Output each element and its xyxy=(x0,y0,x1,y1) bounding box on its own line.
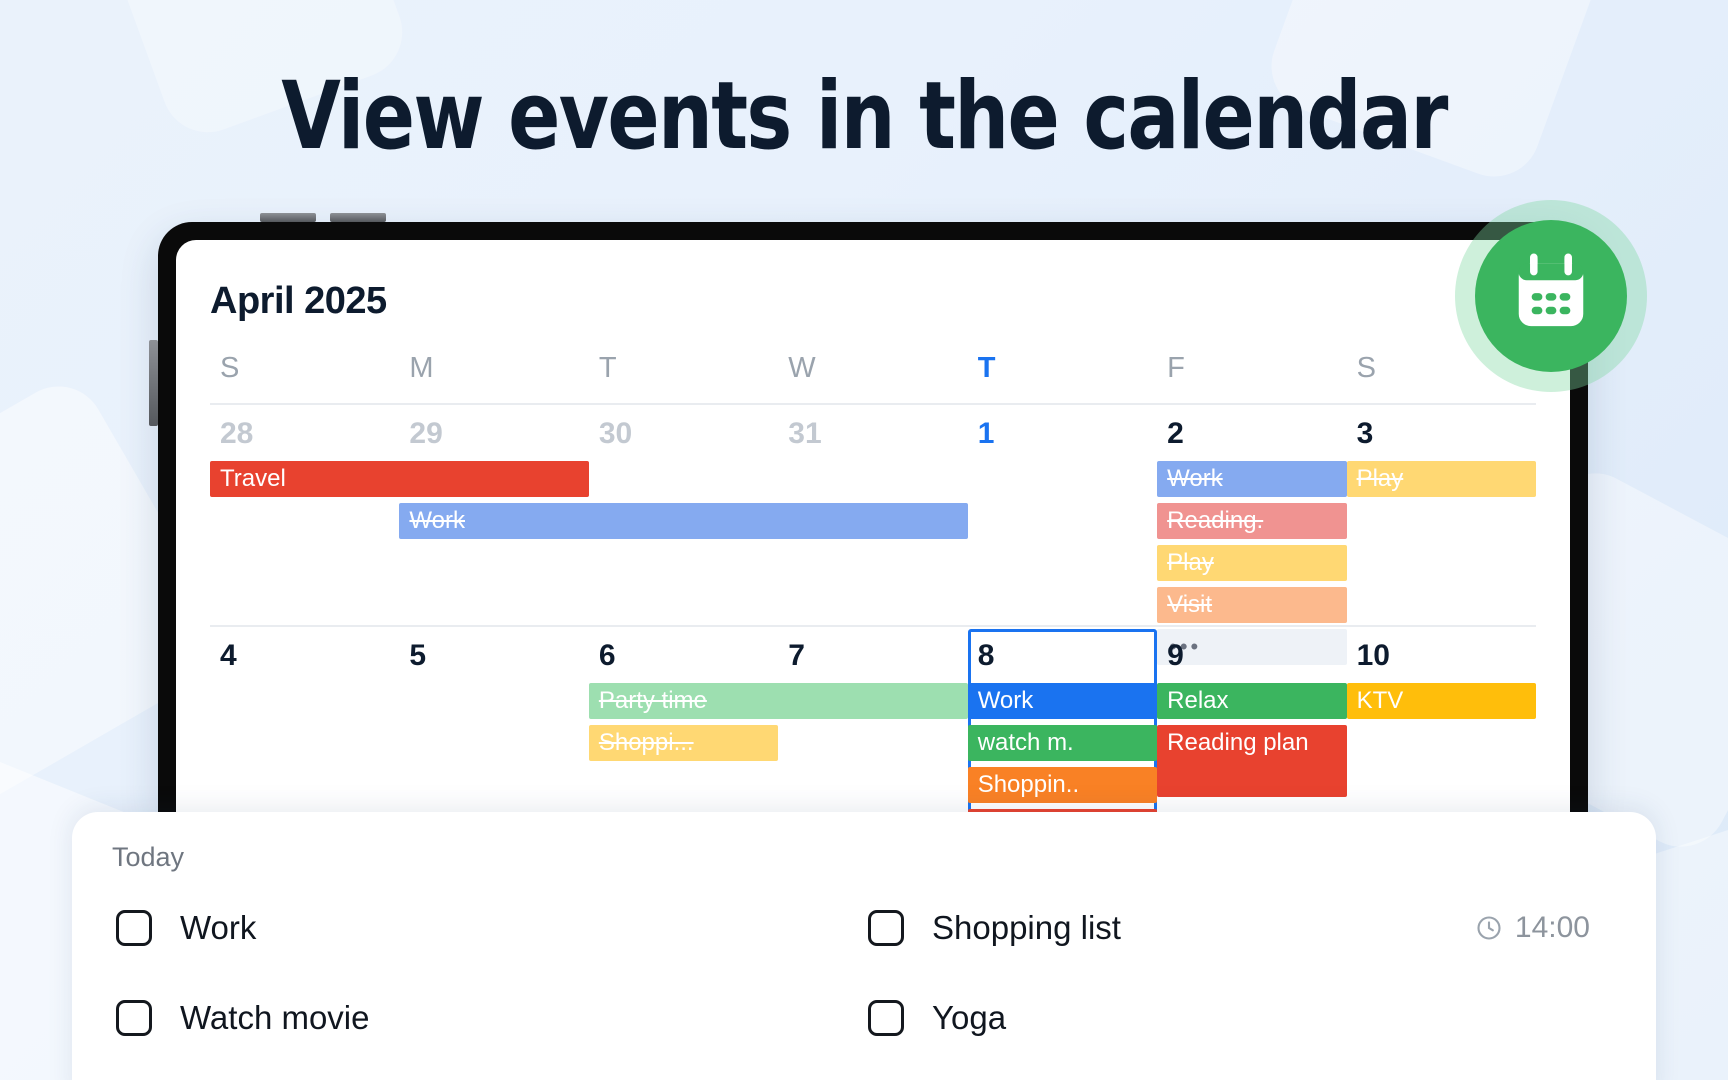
day-cell-1[interactable]: 1 xyxy=(968,417,1157,451)
weekday-label-1: M xyxy=(399,352,588,385)
calendar-week-row: 28293031123TravelWorkWorkReading.PlayVis… xyxy=(210,405,1536,627)
day-number-row: 28293031123 xyxy=(210,405,1536,451)
todo-label: Watch movie xyxy=(180,999,370,1037)
calendar-week-row: 45678910Party timeShoppi...Workwatch m.S… xyxy=(210,627,1536,812)
todo-label: Yoga xyxy=(932,999,1006,1037)
todo-label: Shopping list xyxy=(932,909,1121,947)
day-number-row: 45678910 xyxy=(210,627,1536,673)
calendar-event[interactable]: Work xyxy=(968,683,1157,719)
volume-down-button[interactable] xyxy=(330,213,386,222)
todo-time-value: 14:00 xyxy=(1515,911,1590,945)
calendar-weeks: 28293031123TravelWorkWorkReading.PlayVis… xyxy=(210,405,1536,812)
calendar-header: April 2025 8 xyxy=(210,278,1536,324)
weekday-header-row: SMTWTFS xyxy=(210,352,1536,405)
week-events: TravelWorkWorkReading.PlayVisit•••Play xyxy=(210,461,1536,625)
weekday-label-0: S xyxy=(210,352,399,385)
calendar-event[interactable]: Reading. xyxy=(1157,503,1346,539)
volume-up-button[interactable] xyxy=(260,213,316,222)
weekday-label-5: F xyxy=(1157,352,1346,385)
calendar-event[interactable]: Shoppin.. xyxy=(968,767,1157,803)
day-cell-29[interactable]: 29 xyxy=(399,417,588,451)
today-todo-card: Today WorkShopping list14:00Watch movieY… xyxy=(72,812,1656,1080)
day-cell-9[interactable]: 9 xyxy=(1157,639,1346,673)
day-cell-8[interactable]: 8 xyxy=(968,639,1157,673)
weekday-label-3: W xyxy=(778,352,967,385)
calendar-app-screen: April 2025 8 SMTWTFS 28293031123TravelWo… xyxy=(176,240,1570,812)
todo-item[interactable]: Work xyxy=(112,893,864,963)
clock-icon xyxy=(1475,914,1503,942)
todo-item[interactable]: Yoga xyxy=(864,983,1616,1053)
day-cell-3[interactable]: 3 xyxy=(1347,417,1536,451)
calendar-event[interactable]: Visit xyxy=(1157,587,1346,623)
calendar-event[interactable]: Reading plan xyxy=(1157,725,1346,797)
checkbox[interactable] xyxy=(868,910,904,946)
checkbox[interactable] xyxy=(116,910,152,946)
checkbox[interactable] xyxy=(116,1000,152,1036)
tablet-device-frame: April 2025 8 SMTWTFS 28293031123TravelWo… xyxy=(158,222,1588,812)
calendar-event[interactable]: Relax xyxy=(1157,683,1346,719)
day-cell-4[interactable]: 4 xyxy=(210,639,399,673)
todo-label: Work xyxy=(180,909,256,947)
day-cell-28[interactable]: 28 xyxy=(210,417,399,451)
calendar-event[interactable]: Travel xyxy=(210,461,589,497)
day-cell-5[interactable]: 5 xyxy=(399,639,588,673)
page-headline: View events in the calendar xyxy=(156,62,1573,171)
day-cell-31[interactable]: 31 xyxy=(778,417,967,451)
calendar-month-title: April 2025 xyxy=(210,280,387,323)
weekday-label-2: T xyxy=(589,352,778,385)
checkbox[interactable] xyxy=(868,1000,904,1036)
calendar-event[interactable]: Play xyxy=(1157,545,1346,581)
today-section-label: Today xyxy=(112,842,1616,873)
calendar-event[interactable]: KTV xyxy=(1347,683,1536,719)
power-button[interactable] xyxy=(149,340,158,426)
app-badge xyxy=(1455,200,1647,392)
day-cell-6[interactable]: 6 xyxy=(589,639,778,673)
calendar-event[interactable]: Work xyxy=(1157,461,1346,497)
weekday-label-4: T xyxy=(968,352,1157,385)
todo-item[interactable]: Shopping list14:00 xyxy=(864,893,1616,963)
badge-circle xyxy=(1475,220,1627,372)
week-events: Party timeShoppi...Workwatch m.Shoppin..… xyxy=(210,683,1536,812)
day-cell-10[interactable]: 10 xyxy=(1347,639,1536,673)
page-root: View events in the calendar April 2025 8 xyxy=(0,0,1728,1080)
calendar-event[interactable]: Work xyxy=(399,503,967,539)
calendar-event[interactable]: Party time xyxy=(589,683,968,719)
todo-item[interactable]: Watch movie xyxy=(112,983,864,1053)
day-cell-7[interactable]: 7 xyxy=(778,639,967,673)
calendar-event[interactable]: watch m. xyxy=(968,725,1157,761)
day-cell-2[interactable]: 2 xyxy=(1157,417,1346,451)
calendar-event[interactable]: Shoppi... xyxy=(589,725,778,761)
calendar-event[interactable]: Play xyxy=(1347,461,1536,497)
todo-time: 14:00 xyxy=(1475,911,1616,945)
todo-list: WorkShopping list14:00Watch movieYoga xyxy=(112,893,1616,1053)
calendar-icon xyxy=(1508,253,1594,339)
day-cell-30[interactable]: 30 xyxy=(589,417,778,451)
